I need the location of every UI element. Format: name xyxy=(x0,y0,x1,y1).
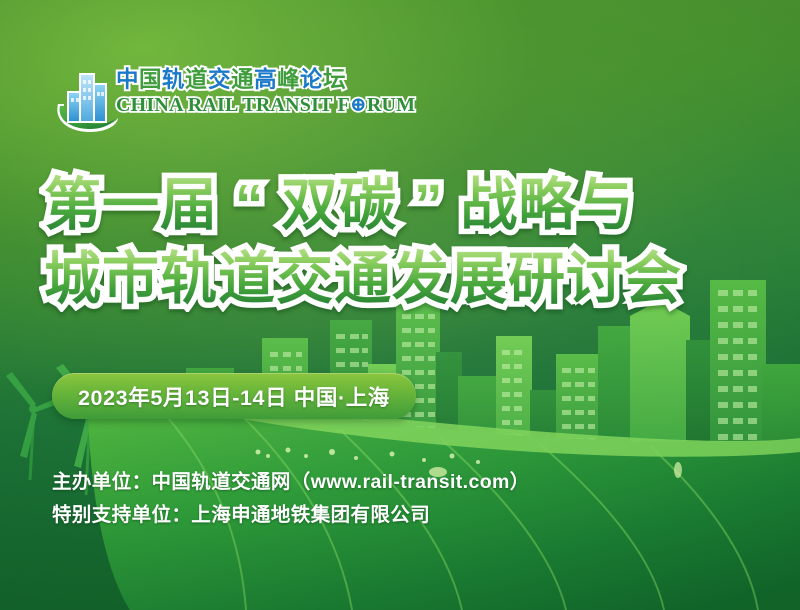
logo-cn-char: 通 xyxy=(231,67,254,92)
logo-en-after: RUM xyxy=(367,94,415,116)
logo-cn-char: 中 xyxy=(116,67,139,92)
forum-logo: 中国轨道交通高峰论坛 CHINA RAIL TRANSIT F⊕RUM xyxy=(52,60,337,138)
logo-cn-char: 国 xyxy=(139,67,162,92)
scenery-illustration xyxy=(0,280,800,610)
city-buildings-leaf-logo-icon xyxy=(52,62,120,134)
logo-cn-char: 坛 xyxy=(323,67,346,92)
title-line-1-fill: 第一届 “ 双碳 ” 战略与 xyxy=(44,173,634,237)
supporter-line: 特别支持单位：上海申通地铁集团有限公司 xyxy=(52,499,530,532)
logo-cn-char: 论 xyxy=(300,67,323,92)
forum-name-en: CHINA RAIL TRANSIT F⊕RUM xyxy=(116,92,415,117)
forum-logo-text: 中国轨道交通高峰论坛 CHINA RAIL TRANSIT F⊕RUM xyxy=(116,66,341,128)
event-poster: 中国轨道交通高峰论坛 CHINA RAIL TRANSIT F⊕RUM 第一届 … xyxy=(0,0,800,610)
logo-en-before: CHINA RAIL TRANSIT F xyxy=(116,94,350,116)
date-location-badge: 2023年5月13日-14日 中国·上海 xyxy=(52,373,416,419)
title-line-2-fill: 城市轨道交通发展研讨会 xyxy=(44,247,682,311)
forum-name-cn: 中国轨道交通高峰论坛 xyxy=(116,66,341,94)
logo-cn-char: 高 xyxy=(254,67,277,92)
title-line-2: 城市轨道交通发展研讨会 城市轨道交通发展研讨会 xyxy=(44,242,684,316)
globe-icon: ⊕ xyxy=(350,94,367,116)
logo-cn-char: 交 xyxy=(208,67,231,92)
date-location-text: 2023年5月13日-14日 中国·上海 xyxy=(78,381,390,412)
organizer-line: 主办单位：中国轨道交通网（www.rail-transit.com） xyxy=(52,466,530,499)
title-line-1: 第一届 “ 双碳 ” 战略与 第一届 “ 双碳 ” 战略与 xyxy=(44,168,684,242)
poster-title: 第一届 “ 双碳 ” 战略与 第一届 “ 双碳 ” 战略与 城市轨道交通发展研讨… xyxy=(44,168,684,316)
poster-footer: 主办单位：中国轨道交通网（www.rail-transit.com） 特别支持单… xyxy=(52,466,530,532)
logo-cn-char: 道 xyxy=(185,67,208,92)
logo-cn-char: 轨 xyxy=(162,67,185,92)
logo-cn-char: 峰 xyxy=(277,67,300,92)
